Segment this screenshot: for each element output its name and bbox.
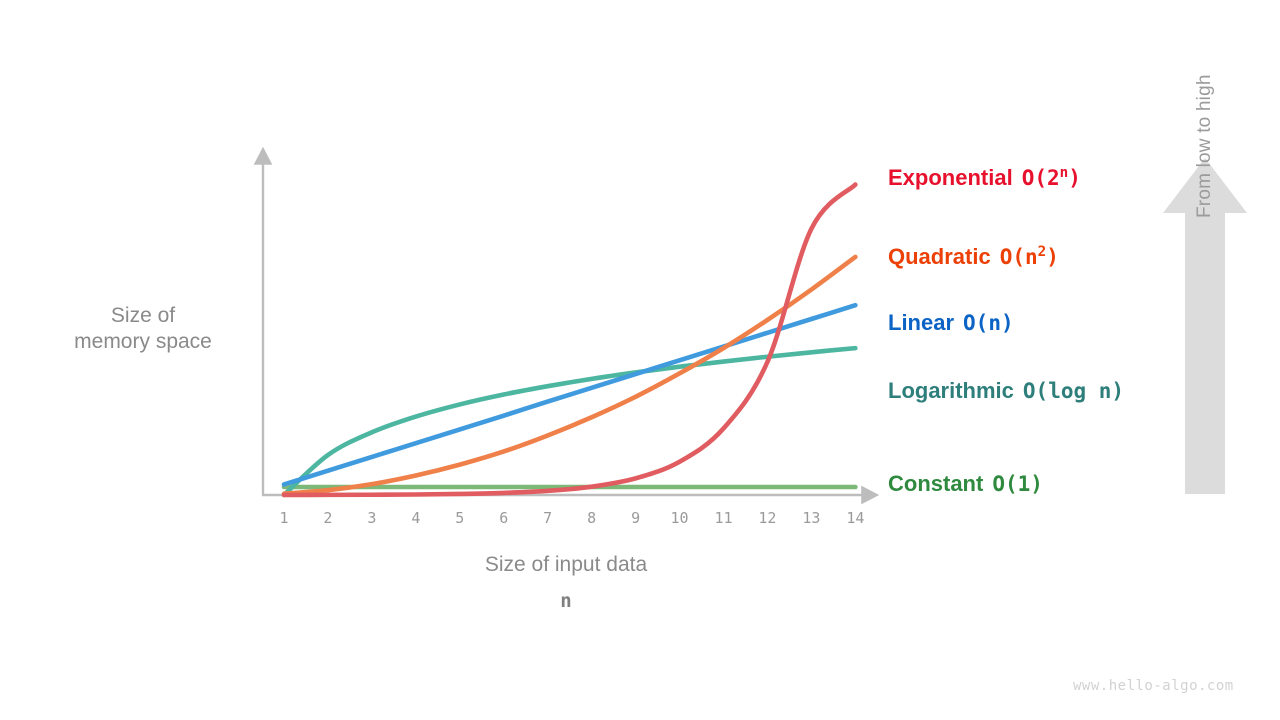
x-tick-label: 7 (528, 509, 568, 527)
legend-item-name: Exponential (888, 165, 1013, 190)
magnitude-arrow-label: From low to high (1163, 0, 1247, 242)
y-axis-title-line1: Size of (111, 304, 175, 327)
chart-canvas: Size ofmemory space Size of input data n… (0, 0, 1280, 720)
x-tick-label: 4 (396, 509, 436, 527)
legend-item-name: Logarithmic (888, 378, 1014, 403)
x-tick-label: 6 (484, 509, 524, 527)
x-tick-label: 8 (572, 509, 612, 527)
x-tick-label: 1 (264, 509, 304, 527)
legend-item-exponent: 2 (1038, 244, 1047, 260)
legend-item-notation: O(n2) (991, 245, 1059, 269)
x-tick-label: 2 (308, 509, 348, 527)
x-tick-label: 12 (747, 509, 787, 527)
legend-item-exponent: n (1060, 165, 1069, 181)
curve-group (284, 185, 855, 495)
legend-item-notation: O(n) (954, 311, 1014, 335)
legend-item-name: Linear (888, 310, 954, 335)
legend-item-notation: O(2n) (1013, 166, 1081, 190)
y-axis-title-line2: memory space (74, 330, 212, 353)
series-line (284, 185, 855, 495)
y-axis-title: Size ofmemory space (30, 303, 256, 355)
legend-item-constant: ConstantO(1) (888, 471, 1043, 497)
x-axis-symbol: n (420, 590, 712, 612)
legend-item-exponential: ExponentialO(2n) (888, 165, 1081, 191)
x-tick-label: 14 (835, 509, 875, 527)
watermark: www.hello-algo.com (1073, 678, 1234, 694)
legend-item-name: Constant (888, 471, 983, 496)
x-tick-label: 10 (660, 509, 700, 527)
legend-item-name: Quadratic (888, 244, 991, 269)
series-line (284, 305, 855, 484)
x-tick-label: 11 (704, 509, 744, 527)
x-tick-label: 9 (616, 509, 656, 527)
legend-item-quadratic: QuadraticO(n2) (888, 244, 1059, 270)
legend-item-logarithmic: LogarithmicO(log n) (888, 378, 1124, 404)
complexity-plot-svg (0, 0, 1280, 720)
x-tick-label: 13 (791, 509, 831, 527)
x-tick-label: 3 (352, 509, 392, 527)
legend-item-notation: O(1) (983, 472, 1043, 496)
legend-item-linear: LinearO(n) (888, 310, 1014, 336)
x-tick-label: 5 (440, 509, 480, 527)
legend-item-notation: O(log n) (1014, 379, 1124, 403)
x-axis-title: Size of input data (420, 552, 712, 578)
series-line (284, 348, 855, 495)
